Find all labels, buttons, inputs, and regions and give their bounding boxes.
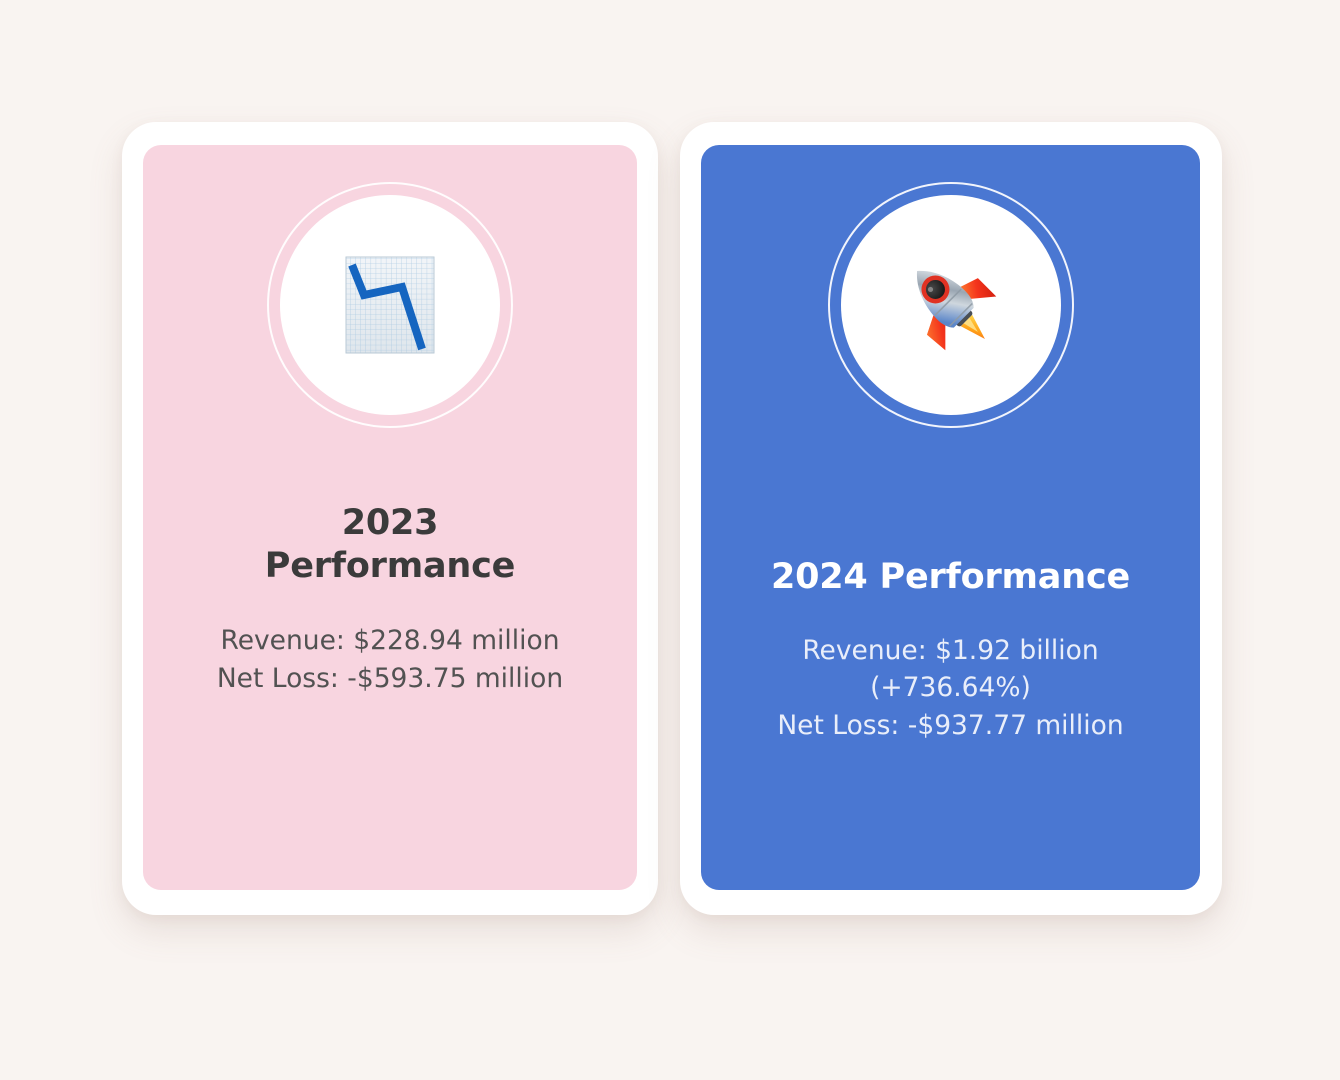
card-panel-2023: 2023 Performance Revenue: $228.94 millio… [143,145,637,890]
cards-row: 2023 Performance Revenue: $228.94 millio… [122,122,1222,918]
card-title-2023: 2023 Performance [250,502,530,587]
card-panel-2024: 2024 Performance Revenue: $1.92 billion … [701,145,1200,890]
card-performance-2023[interactable]: 2023 Performance Revenue: $228.94 millio… [122,122,658,915]
card-stats-2023: Revenue: $228.94 million Net Loss: -$593… [180,622,600,697]
rocket-icon [899,253,1003,357]
icon-medallion-2024 [828,182,1074,428]
stat-line: Net Loss: -$937.77 million [751,707,1151,745]
stat-line: Revenue: $228.94 million [180,622,600,660]
stat-line: Revenue: $1.92 billion [751,632,1151,670]
stat-line: (+736.64%) [751,669,1151,707]
chart-decreasing-icon [338,253,442,357]
icon-medallion-2023 [267,182,513,428]
card-stats-2024: Revenue: $1.92 billion (+736.64%) Net Lo… [751,632,1151,745]
stat-line: Net Loss: -$593.75 million [180,660,600,698]
comparison-cards-stage: 2023 Performance Revenue: $228.94 millio… [0,0,1340,1080]
card-performance-2024[interactable]: 2024 Performance Revenue: $1.92 billion … [680,122,1222,915]
card-title-2024: 2024 Performance [736,556,1166,599]
